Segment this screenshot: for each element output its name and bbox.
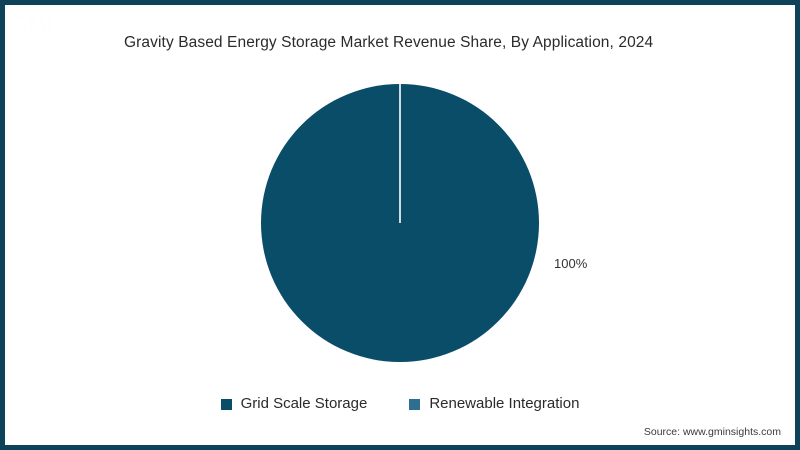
chart-legend: Grid Scale Storage Renewable Integration [0, 393, 800, 415]
legend-item-grid-scale-storage[interactable]: Grid Scale Storage [221, 393, 368, 415]
legend-item-label: Renewable Integration [429, 393, 579, 415]
legend-item-renewable-integration[interactable]: Renewable Integration [409, 393, 579, 415]
chart-card: GMI Gravity Based Energy Storage Market … [0, 0, 800, 450]
legend-item-label: Grid Scale Storage [241, 393, 368, 415]
legend-swatch-icon [221, 399, 232, 410]
pie-chart-svg [0, 0, 800, 450]
legend-swatch-icon [409, 399, 420, 410]
pie-chart-plot-area [0, 0, 800, 450]
pie-value-label: 100% [554, 256, 587, 271]
source-attribution: Source: www.gminsights.com [644, 426, 781, 438]
